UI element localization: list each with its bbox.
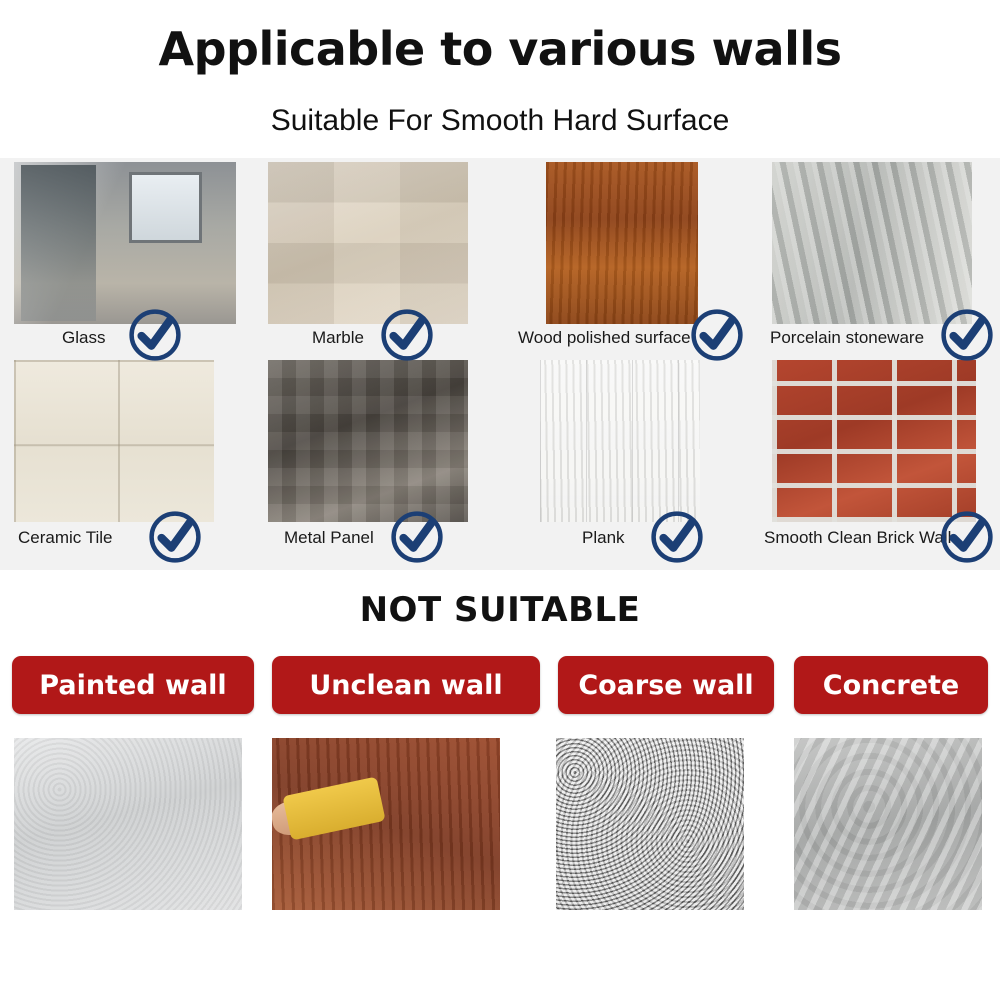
ceramic-tile-thumbnail	[14, 360, 214, 522]
not-suitable-badge: Unclean wall	[272, 656, 540, 714]
suitable-item-label: Plank	[582, 528, 625, 548]
wood-thumbnail	[546, 162, 698, 324]
plank-thumbnail	[540, 360, 700, 522]
suitable-item-ceramic-tile: Ceramic Tile	[14, 360, 236, 556]
check-mark-icon	[380, 308, 434, 362]
check-mark-icon	[390, 510, 444, 564]
suitable-item-label: Porcelain stoneware	[770, 328, 924, 348]
check-mark-icon	[690, 308, 744, 362]
suitable-surfaces-section: Glass Marble Wood polished surface Porce…	[0, 158, 1000, 570]
not-suitable-badge: Painted wall	[12, 656, 254, 714]
glass-thumbnail	[14, 162, 236, 324]
brick-wall-thumbnail	[772, 360, 976, 522]
porcelain-thumbnail	[772, 162, 972, 324]
check-mark-icon	[940, 510, 994, 564]
not-suitable-badge: Coarse wall	[558, 656, 774, 714]
not-suitable-heading: NOT SUITABLE	[0, 590, 1000, 630]
suitable-item-label: Metal Panel	[284, 528, 374, 548]
suitable-item-label: Smooth Clean Brick Wall	[764, 528, 951, 548]
check-mark-icon	[940, 308, 994, 362]
suitable-item-label: Ceramic Tile	[18, 528, 112, 548]
check-mark-icon	[650, 510, 704, 564]
not-suitable-badge: Concrete	[794, 656, 988, 714]
suitable-item-marble: Marble	[268, 162, 490, 352]
unclean-wall-thumbnail	[272, 738, 500, 910]
metal-panel-thumbnail	[268, 360, 468, 522]
promo-page: Applicable to various walls Suitable For…	[0, 0, 1000, 987]
check-mark-icon	[128, 308, 182, 362]
suitable-item-metal-panel: Metal Panel	[268, 360, 490, 556]
page-title: Applicable to various walls	[0, 22, 1000, 76]
page-subtitle: Suitable For Smooth Hard Surface	[0, 104, 1000, 138]
suitable-item-plank: Plank	[518, 360, 750, 556]
concrete-wall-thumbnail	[794, 738, 982, 910]
suitable-item-label: Wood polished surface	[518, 328, 691, 348]
painted-wall-thumbnail	[14, 738, 242, 910]
check-mark-icon	[148, 510, 202, 564]
marble-thumbnail	[268, 162, 468, 324]
coarse-wall-thumbnail	[556, 738, 744, 910]
suitable-item-label: Glass	[62, 328, 105, 348]
suitable-item-glass: Glass	[14, 162, 236, 352]
suitable-item-label: Marble	[312, 328, 364, 348]
